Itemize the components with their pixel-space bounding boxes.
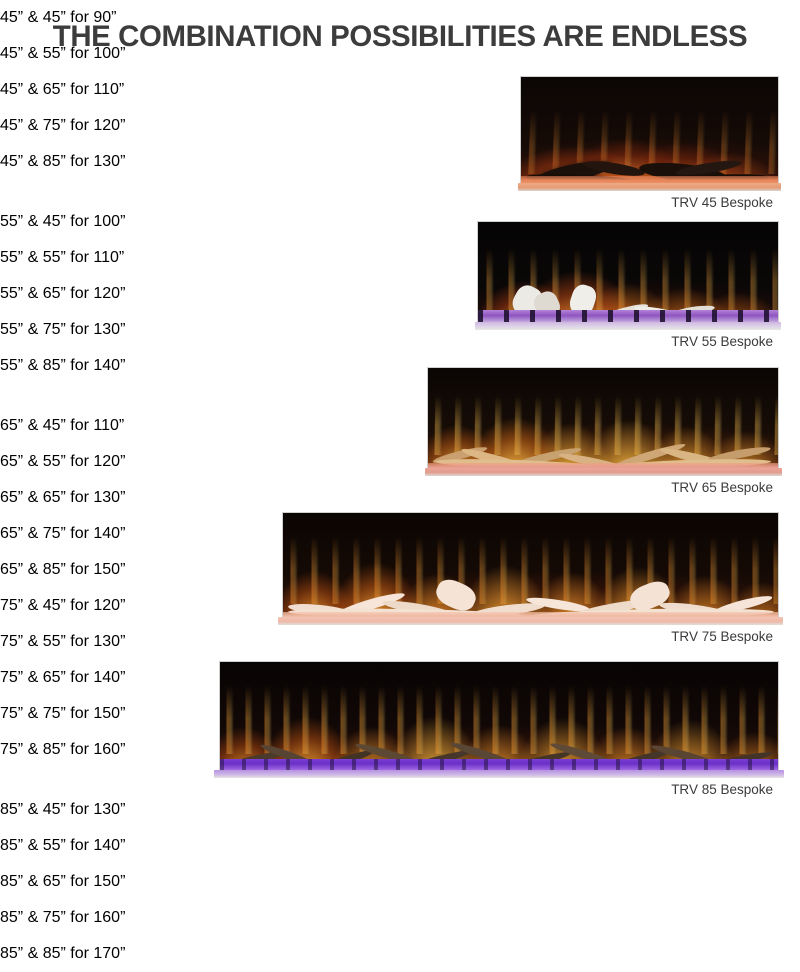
hearth-lip [425,468,782,476]
combination-line: 85” & 45” for 130” [0,792,800,828]
combination-line: 85” & 55” for 140” [0,828,800,864]
hearth-lip [475,322,781,330]
hearth-lip [518,183,780,191]
combination-group-85: 85” & 45” for 130” 85” & 55” for 140” 85… [0,792,800,972]
hearth-lip [214,770,783,778]
combination-line: 85” & 65” for 150” [0,864,800,900]
fireplace-image-trv-75 [283,513,778,621]
product-caption-trv-65: TRV 65 Bespoke [433,480,773,495]
product-trv-55: TRV 55 Bespoke [478,222,778,326]
product-trv-45: TRV 45 Bespoke [521,77,778,187]
combination-line: 85” & 85” for 170” [0,936,800,972]
product-caption-trv-55: TRV 55 Bespoke [483,334,773,349]
product-caption-trv-45: TRV 45 Bespoke [523,195,773,210]
fireplace-image-trv-55 [478,222,778,326]
combination-column-right: 75” & 45” for 120” 75” & 55” for 130” 75… [0,588,800,972]
product-trv-85: TRV 85 Bespoke [220,662,778,774]
page-title: THE COMBINATION POSSIBILITIES ARE ENDLES… [8,20,792,54]
product-caption-trv-75: TRV 75 Bespoke [288,629,773,644]
hearth-lip [278,617,783,625]
fireplace-image-trv-65 [428,368,778,472]
product-caption-trv-85: TRV 85 Bespoke [225,782,773,797]
combination-line: 85” & 75” for 160” [0,900,800,936]
fireplace-image-trv-45 [521,77,778,187]
product-trv-65: TRV 65 Bespoke [428,368,778,472]
product-trv-75: TRV 75 Bespoke [283,513,778,621]
fireplace-image-trv-85 [220,662,778,774]
